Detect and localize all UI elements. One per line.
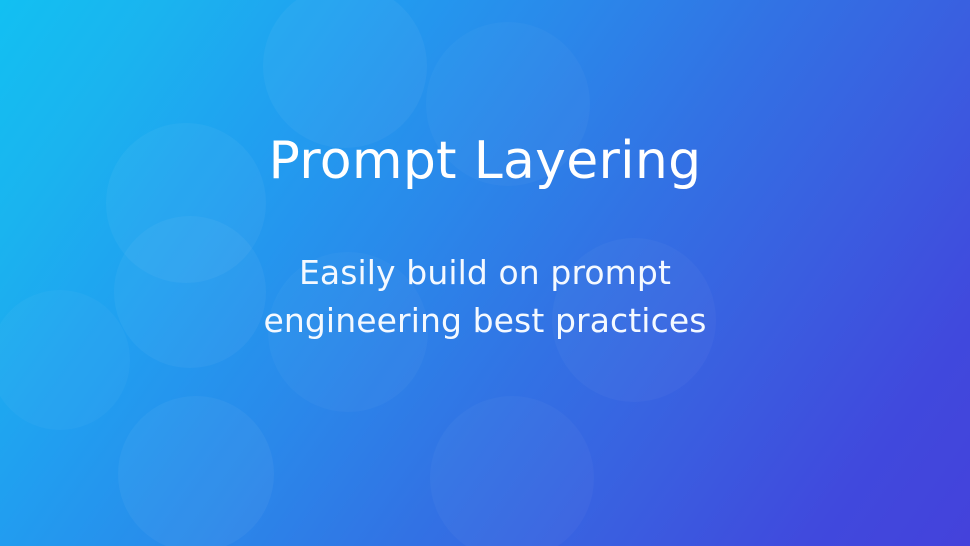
presentation-slide: Prompt Layering Easily build on prompt e…	[0, 0, 970, 546]
subtitle-line-2: engineering best practices	[263, 297, 706, 345]
slide-content: Prompt Layering Easily build on prompt e…	[0, 0, 970, 546]
page-title: Prompt Layering	[269, 133, 702, 190]
subtitle-line-1: Easily build on prompt	[263, 249, 706, 297]
slide-subtitle: Easily build on prompt engineering best …	[263, 249, 706, 345]
